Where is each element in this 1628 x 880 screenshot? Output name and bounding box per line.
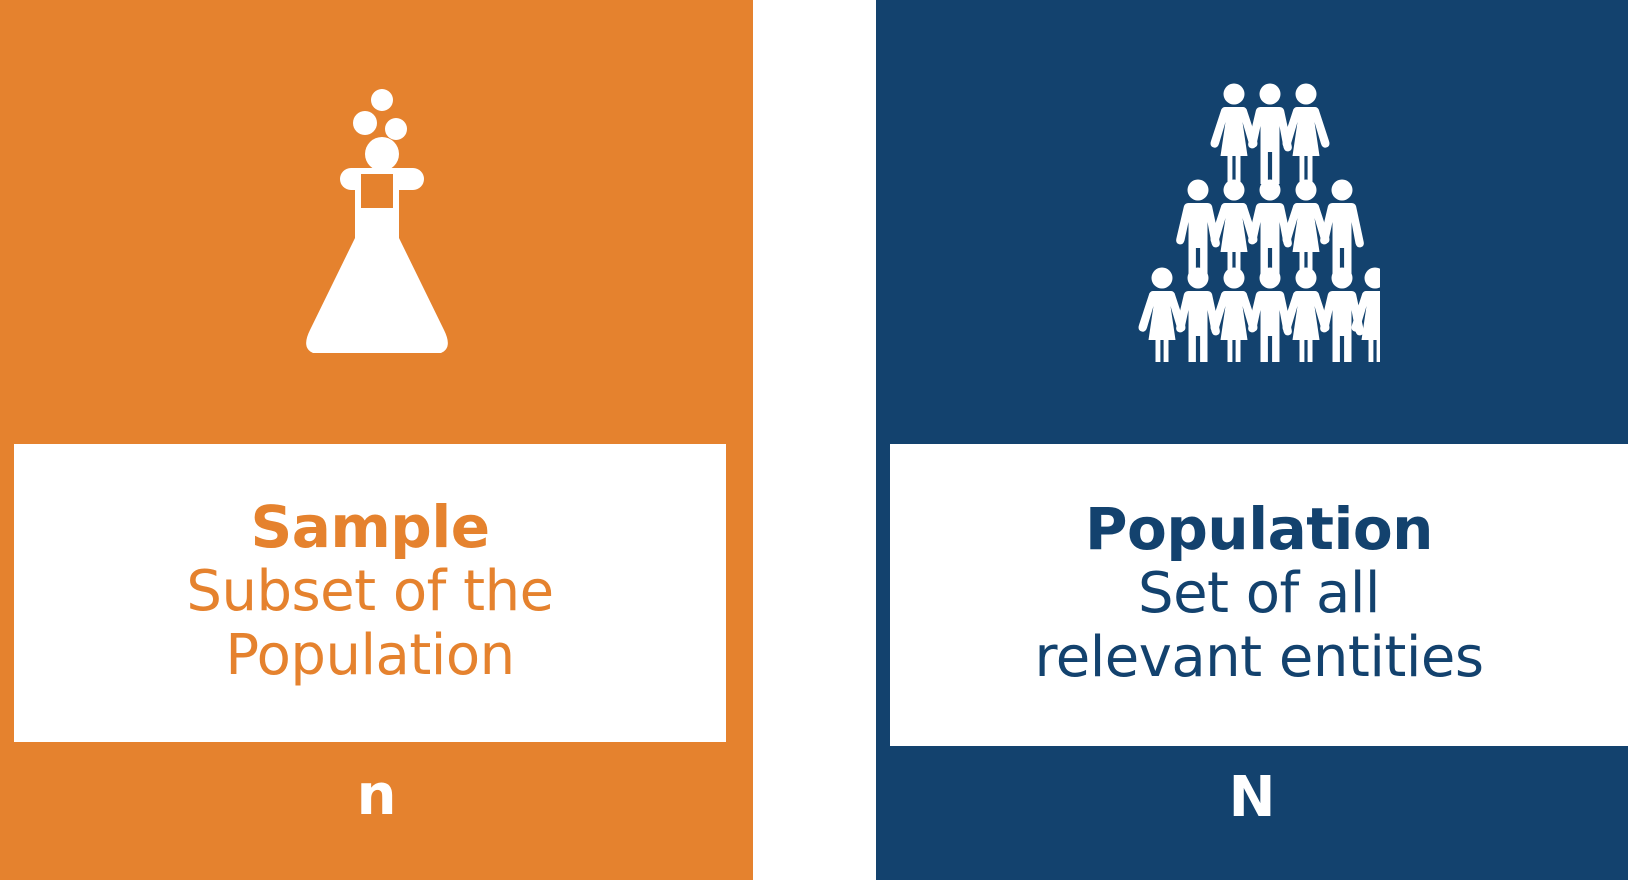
sample-panel: Sample Subset of the Population n xyxy=(0,0,753,880)
people-row-bottom xyxy=(1139,268,1380,363)
infographic-canvas: Sample Subset of the Population n xyxy=(0,0,1628,880)
bubble-icon xyxy=(353,111,377,135)
population-description-line-1: Set of all xyxy=(1130,562,1388,626)
sample-text-card: Sample Subset of the Population xyxy=(14,444,726,742)
bubble-icon xyxy=(385,118,407,140)
people-group-icon xyxy=(1124,72,1380,362)
flask-icon xyxy=(297,78,457,368)
sample-icon-area xyxy=(0,0,753,432)
bubble-icon xyxy=(371,89,393,111)
sample-description-line-2: Population xyxy=(217,624,522,688)
population-symbol: N xyxy=(876,770,1628,826)
population-description-line-2: relevant entities xyxy=(1026,626,1491,690)
people-row-top xyxy=(1211,84,1330,185)
population-title: Population xyxy=(1085,500,1433,558)
population-icon-area xyxy=(876,0,1628,432)
population-panel: Population Set of all relevant entities … xyxy=(876,0,1628,880)
sample-title: Sample xyxy=(250,498,489,556)
bubble-icon xyxy=(365,137,399,171)
population-text-card: Population Set of all relevant entities xyxy=(890,444,1628,746)
people-row-middle xyxy=(1176,180,1364,281)
sample-symbol: n xyxy=(0,768,753,824)
sample-description-line-1: Subset of the xyxy=(178,560,561,624)
flask-neck-cutout xyxy=(361,174,393,208)
